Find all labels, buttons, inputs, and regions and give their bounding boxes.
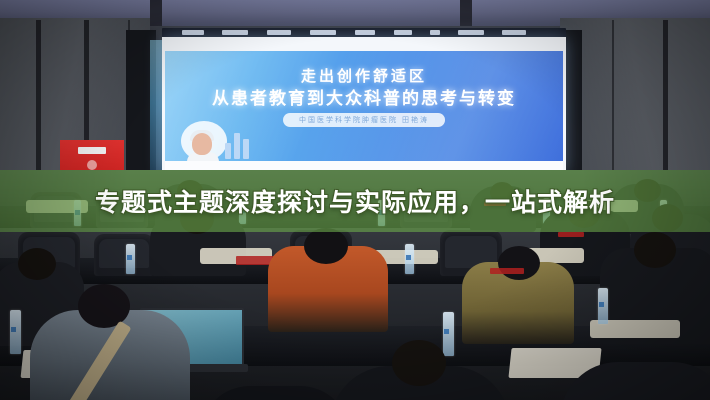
caption-text: 专题式主题深度探讨与实际应用，一站式解析 xyxy=(0,170,710,232)
chair xyxy=(94,234,154,276)
screenshot-root: 走出创作舒适区 从患者教育到大众科普的思考与转变 中国医学科学院肿瘤医院 田艳涛 xyxy=(0,0,710,400)
water-bottle xyxy=(598,288,608,324)
screen-frame: 走出创作舒适区 从患者教育到大众科普的思考与转变 中国医学科学院肿瘤医院 田艳涛 xyxy=(162,37,566,173)
list-item xyxy=(200,386,350,400)
poster-label xyxy=(78,147,106,154)
list-item xyxy=(330,366,510,400)
list-item xyxy=(462,262,574,344)
water-bottle xyxy=(126,244,135,274)
list-item xyxy=(30,310,190,400)
door-glass-left xyxy=(150,40,162,180)
water-bottle xyxy=(443,312,454,356)
list-item xyxy=(268,246,388,332)
poster-seal-icon xyxy=(87,160,97,170)
water-bottle xyxy=(405,244,414,274)
slide-subtitle: 从患者教育到大众科普的思考与转变 xyxy=(165,84,563,109)
slide-affiliation: 中国医学科学院肿瘤医院 田艳涛 xyxy=(283,113,445,127)
presentation-slide: 走出创作舒适区 从患者教育到大众科普的思考与转变 中国医学科学院肿瘤医院 田艳涛 xyxy=(165,51,563,161)
speaker-portrait xyxy=(181,121,227,161)
slide-title: 走出创作舒适区 xyxy=(165,65,563,86)
slide-bar-graphic xyxy=(225,125,251,159)
projection-screen: 走出创作舒适区 从患者教育到大众科普的思考与转变 中国医学科学院肿瘤医院 田艳涛 xyxy=(162,28,566,173)
water-bottle xyxy=(10,310,21,354)
